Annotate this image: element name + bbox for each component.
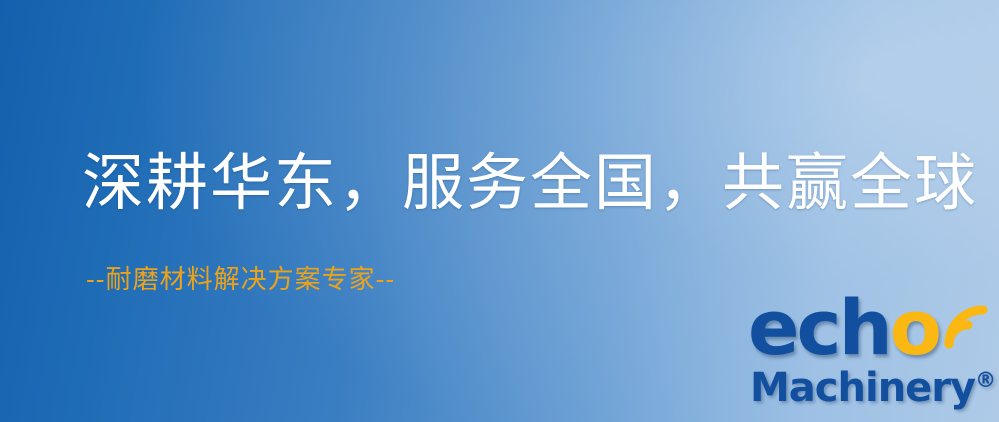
- logo-word-ech: ech: [748, 283, 890, 372]
- promo-banner: 深耕华东，服务全国，共赢全球 --耐磨材料解决方案专家-- echo Machi…: [0, 0, 999, 422]
- logo-wordmark: echo Machinery®: [748, 296, 999, 376]
- signal-waves-icon: [941, 294, 999, 356]
- logo-word-echo: echo: [748, 290, 939, 366]
- registered-trademark-icon: ®: [975, 368, 996, 392]
- logo-letter-o: o: [890, 283, 939, 372]
- logo-tagline: Machinery®: [750, 368, 996, 408]
- echo-machinery-logo: echo Machinery®: [748, 296, 999, 422]
- banner-subtitle: --耐磨材料解决方案专家--: [86, 267, 395, 293]
- banner-headline: 深耕华东，服务全国，共赢全球: [82, 152, 978, 214]
- logo-tagline-text: Machinery: [750, 365, 975, 411]
